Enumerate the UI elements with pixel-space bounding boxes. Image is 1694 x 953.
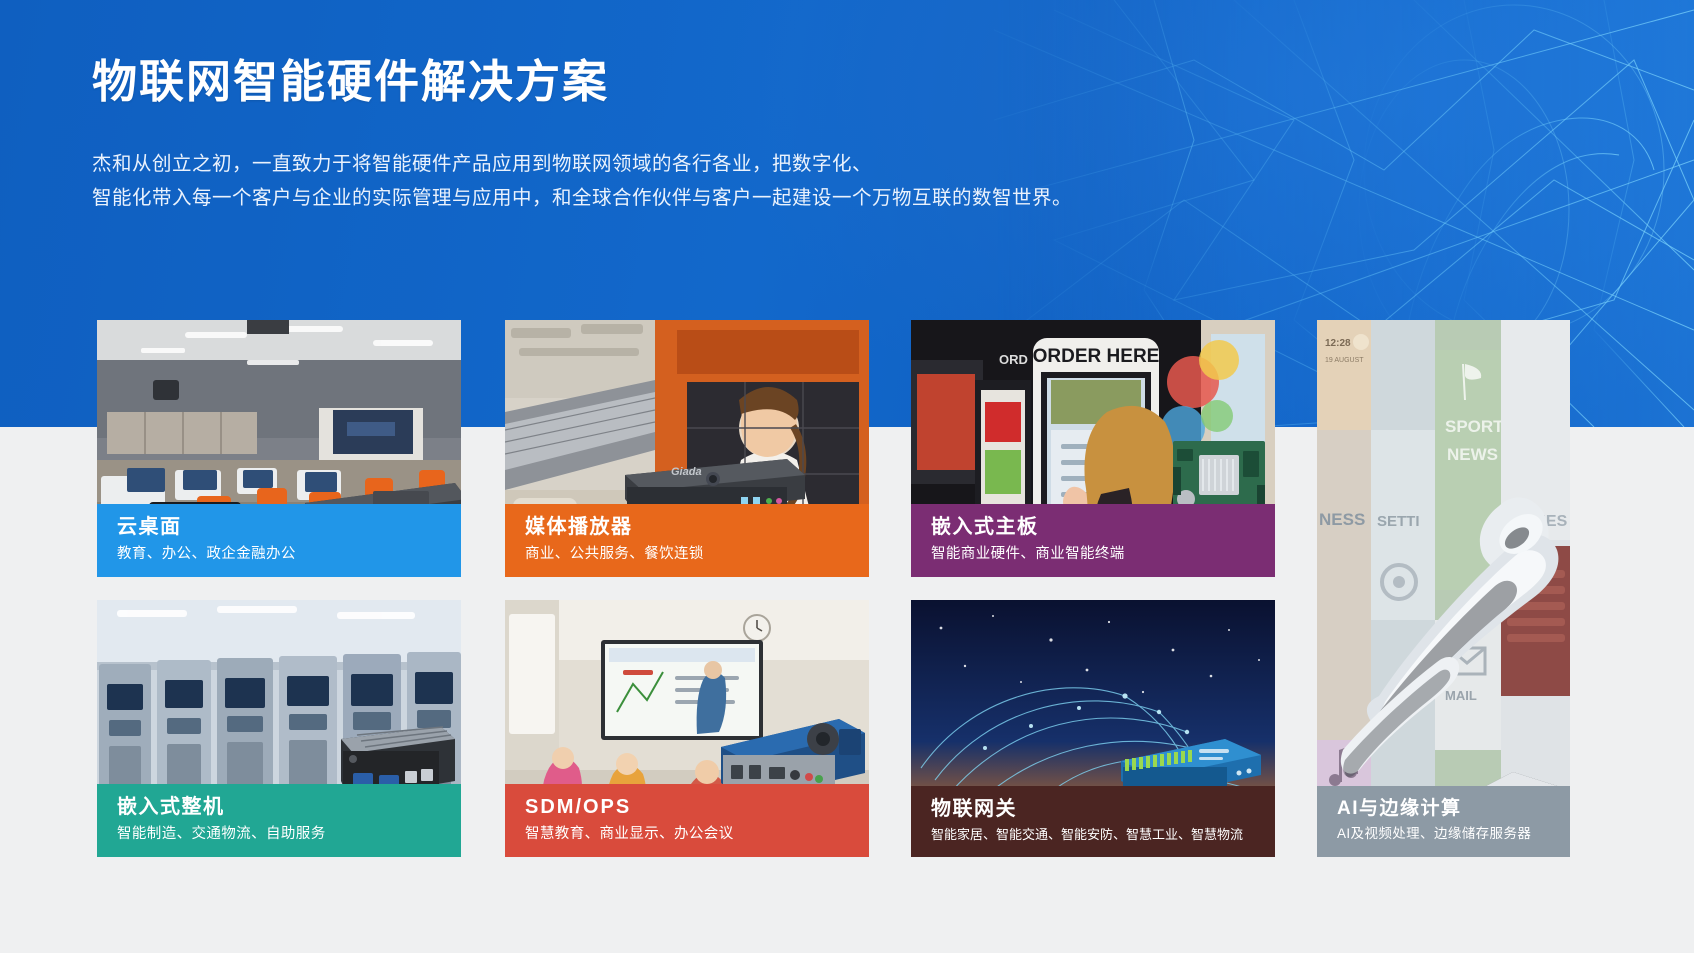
svg-text:12:28: 12:28 [1325, 338, 1351, 349]
card-label-band: AI与边缘计算 AI及视频处理、边缘储存服务器 [1317, 786, 1570, 857]
card-title: SDM/OPS [525, 795, 849, 820]
svg-text:ORD: ORD [999, 352, 1028, 367]
card-label-band: 物联网关 智能家居、智能交通、智能安防、智慧工业、智慧物流 [911, 786, 1275, 857]
page-root: 物联网智能硬件解决方案 杰和从创立之初，一直致力于将智能硬件产品应用到物联网领域… [0, 0, 1694, 953]
solution-card-embedded-system[interactable]: 嵌入式整机 智能制造、交通物流、自助服务 [97, 600, 461, 857]
card-label-band: 云桌面 教育、办公、政企金融办公 [97, 504, 461, 577]
svg-text:19 AUGUST: 19 AUGUST [1325, 357, 1364, 364]
digital-signage-wall-robot-hand-photo: 12:28 19 AUGUST NESS SETTI SPORT NEWS [1317, 320, 1570, 857]
card-subtitle: 智能家居、智能交通、智能安防、智慧工业、智慧物流 [931, 827, 1255, 843]
card-title: 媒体播放器 [525, 515, 849, 540]
svg-text:NEWS: NEWS [1447, 445, 1498, 464]
svg-text:ORDER HERE: ORDER HERE [1033, 346, 1160, 367]
solution-card-embedded-board[interactable]: ORDER HERE ORD cDonald's [911, 320, 1275, 577]
svg-text:MAIL: MAIL [1445, 688, 1477, 703]
svg-text:SETTI: SETTI [1377, 513, 1420, 530]
solution-card-grid: Giada 云桌面 教育、办公、政企金融办公 [0, 0, 1694, 953]
card-label-band: SDM/OPS 智慧教育、商业显示、办公会议 [505, 784, 869, 857]
card-title: 云桌面 [117, 515, 441, 540]
svg-text:SPORT: SPORT [1445, 417, 1504, 436]
card-subtitle: 智慧教育、商业显示、办公会议 [525, 825, 849, 843]
solution-card-sdm-ops[interactable]: SDM/OPS 智慧教育、商业显示、办公会议 [505, 600, 869, 857]
card-subtitle: 商业、公共服务、餐饮连锁 [525, 545, 849, 563]
card-title: 物联网关 [931, 797, 1255, 822]
card-label-band: 媒体播放器 商业、公共服务、餐饮连锁 [505, 504, 869, 577]
svg-text:NESS: NESS [1319, 510, 1365, 529]
solution-card-cloud-desktop[interactable]: Giada 云桌面 教育、办公、政企金融办公 [97, 320, 461, 577]
card-title: AI与边缘计算 [1337, 797, 1550, 821]
card-subtitle: 智能商业硬件、商业智能终端 [931, 545, 1255, 563]
card-subtitle: 智能制造、交通物流、自助服务 [117, 825, 441, 843]
card-label-band: 嵌入式主板 智能商业硬件、商业智能终端 [911, 504, 1275, 577]
card-title: 嵌入式主板 [931, 515, 1255, 540]
card-title: 嵌入式整机 [117, 795, 441, 820]
solution-card-ai-edge[interactable]: 12:28 19 AUGUST NESS SETTI SPORT NEWS [1317, 320, 1570, 857]
solution-card-media-player[interactable]: im EG Giada 媒体播放器 商业 [505, 320, 869, 577]
card-subtitle: AI及视频处理、边缘储存服务器 [1337, 826, 1550, 843]
solution-card-iot-gateway[interactable]: 物联网关 智能家居、智能交通、智能安防、智慧工业、智慧物流 [911, 600, 1275, 857]
card-label-band: 嵌入式整机 智能制造、交通物流、自助服务 [97, 784, 461, 857]
card-subtitle: 教育、办公、政企金融办公 [117, 545, 441, 563]
